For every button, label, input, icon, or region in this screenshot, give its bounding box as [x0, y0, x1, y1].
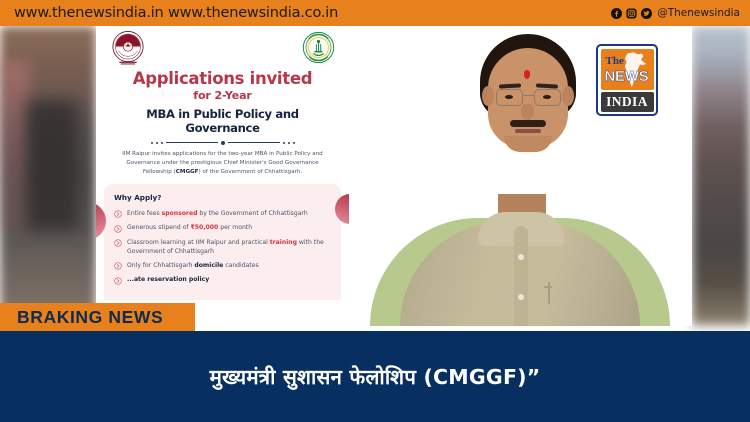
list-item: Only for Chhattisgarh domicile candidate… [114, 261, 331, 271]
bullet-text-pre: Generous stipend of [127, 224, 191, 231]
poster-heading-sub: for 2-Year [108, 89, 337, 102]
bullet-text-post: per month [218, 224, 252, 231]
the-news-india-logo: The NEWS INDIA [596, 44, 658, 116]
bullet-text-post: candidates [223, 262, 258, 269]
bullet-text-highlight: training [270, 239, 297, 246]
mouth [515, 129, 541, 133]
logo-word-news: NEWS [605, 68, 649, 85]
breaking-news-tag: BRAKING NEWS [0, 303, 195, 331]
blurred-backdrop-left-dark [26, 100, 78, 230]
chevron-circle-icon [114, 277, 122, 285]
news-graphic-canvas: www.thenewsindia.in www.thenewsindia.co.… [0, 0, 750, 422]
chin [504, 136, 552, 152]
twitter-icon[interactable] [641, 8, 652, 19]
why-apply-title: Why Apply? [114, 193, 331, 202]
why-apply-card: Why Apply? Entire fees sponsored by the … [104, 184, 341, 300]
tilak-mark [524, 70, 530, 79]
headline-text: मुख्यमंत्री सुशासन फेलोशिप (CMGGF)” [192, 363, 559, 391]
bullet-text-post: by the Government of Chhattisgarh [197, 210, 307, 217]
chevron-circle-icon [114, 262, 122, 270]
eye-left [505, 95, 513, 99]
blurred-backdrop-right [692, 26, 750, 326]
bullet-text-pre: Classroom learning at IIM Raipur and pra… [127, 239, 270, 246]
chevron-circle-icon [114, 239, 122, 247]
politician-portrait: The NEWS INDIA [352, 26, 692, 326]
poster-body-tail: ) of the Government of Chhattisgarh. [198, 169, 302, 175]
bullet-text-highlight: ₹50,000 [191, 224, 219, 231]
poster-divider [108, 141, 337, 145]
list-item: ...ate reservation policy [114, 275, 331, 285]
website-urls: www.thenewsindia.in www.thenewsindia.co.… [14, 5, 338, 21]
list-item: Entire fees sponsored by the Government … [114, 209, 331, 219]
ear-left [482, 86, 494, 106]
logo-word-the: The [606, 55, 624, 67]
eyeglass-bridge [523, 95, 534, 96]
bullet-text-highlight: ...ate reservation policy [127, 276, 209, 283]
facebook-icon[interactable] [611, 8, 622, 19]
poster-heading-main: Applications invited [108, 70, 337, 88]
pocket-flap [544, 286, 552, 288]
headline-bar: मुख्यमंत्री सुशासन फेलोशिप (CMGGF)” [0, 331, 750, 422]
nose [521, 104, 534, 120]
list-item: Generous stipend of ₹50,000 per month [114, 223, 331, 233]
eye-right [543, 95, 551, 99]
breaking-news-label: BRAKING NEWS [17, 307, 163, 328]
poster-logos-row [108, 30, 337, 68]
list-item: Classroom learning at IIM Raipur and pra… [114, 238, 331, 256]
poster-program-title: MBA in Public Policy and Governance [108, 107, 337, 135]
poster-body-acronym: CMGGF [176, 169, 199, 175]
poster-photo-separator [349, 26, 352, 326]
content-panel: Applications invited for 2-Year MBA in P… [96, 26, 692, 326]
chevron-circle-icon [114, 225, 122, 233]
bullet-text-pre: Only for Chhattisgarh [127, 262, 194, 269]
top-url-bar: www.thenewsindia.in www.thenewsindia.co.… [0, 0, 750, 26]
social-handles-group: @Thenewsindia [611, 7, 740, 19]
bullet-text-highlight: domicile [194, 262, 223, 269]
ear-right [562, 86, 574, 106]
logo-bottom-panel: INDIA [601, 92, 654, 112]
instagram-icon[interactable] [626, 8, 637, 19]
chhattisgarh-government-emblem [302, 31, 335, 64]
logo-word-india: INDIA [606, 94, 648, 110]
jacket-button-bottom [518, 294, 524, 300]
jacket-button-top [518, 254, 524, 260]
jacket-placket [514, 226, 528, 326]
bullet-text-highlight: sponsored [162, 210, 198, 217]
bullet-text-pre: Entire fees [127, 210, 162, 217]
poster-body-text: IIM Raipur invites applications for the … [108, 150, 337, 177]
iim-raipur-logo [110, 30, 146, 66]
admissions-poster: Applications invited for 2-Year MBA in P… [96, 26, 349, 326]
social-handle-text: @Thenewsindia [657, 7, 740, 19]
logo-top-panel: The NEWS [601, 49, 654, 91]
chevron-circle-icon [114, 210, 122, 218]
moustache [510, 120, 546, 127]
